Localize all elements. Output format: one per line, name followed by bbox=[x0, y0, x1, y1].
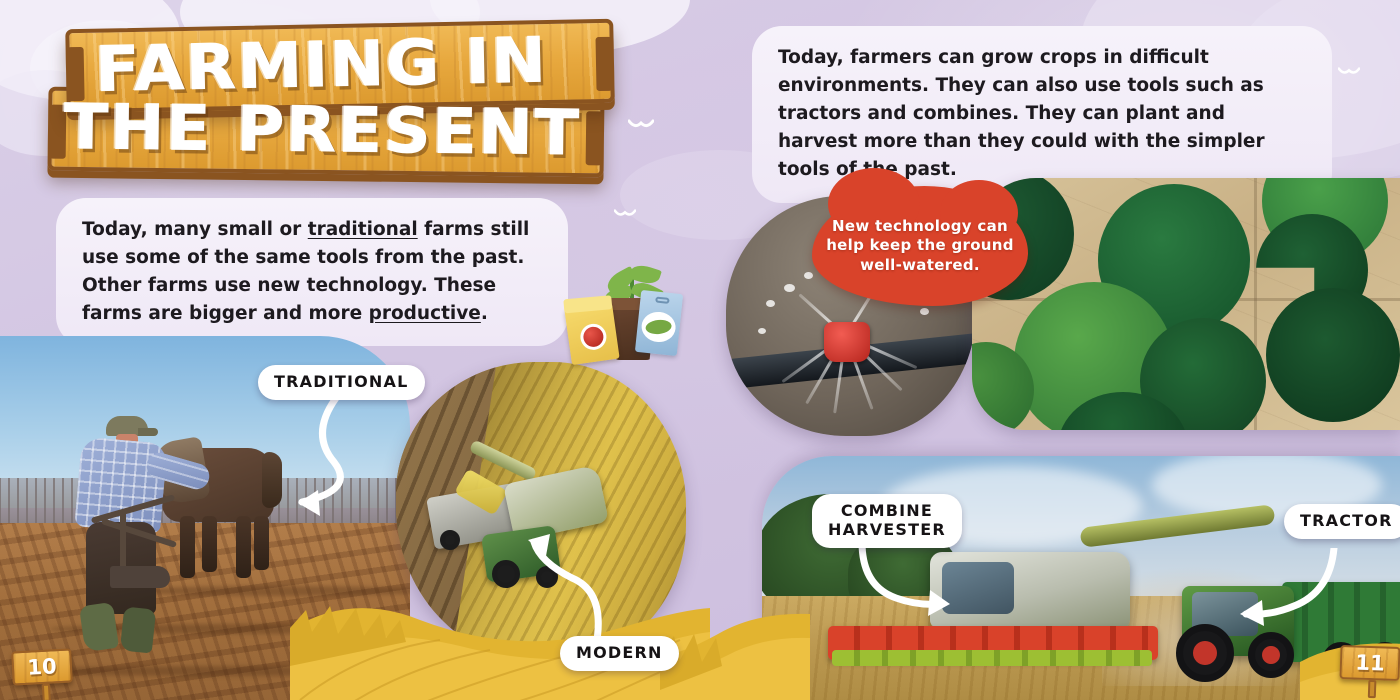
glossary-term-productive: productive bbox=[369, 303, 481, 324]
label-modern[interactable]: MODERN bbox=[560, 636, 679, 671]
label-traditional[interactable]: TRADITIONAL bbox=[258, 365, 425, 400]
pointer-traditional bbox=[240, 398, 350, 538]
book-spread: FARMING IN THE PRESENT Today, farmers ca… bbox=[0, 0, 1400, 700]
right-text-panel: Today, farmers can grow crops in difficu… bbox=[752, 26, 1332, 203]
page-number-left: 10 bbox=[11, 648, 73, 685]
page-number-right: 11 bbox=[1339, 645, 1400, 681]
pointer-tractor bbox=[1212, 548, 1342, 640]
glossary-term-traditional: traditional bbox=[308, 219, 418, 240]
pointer-combine bbox=[856, 542, 976, 628]
photo-aerial-crop-circles bbox=[972, 178, 1400, 430]
horse-plough bbox=[90, 500, 210, 590]
technology-callout-bubble: New technology can help keep the ground … bbox=[812, 186, 1028, 306]
left-text-part1: Today, many small or bbox=[82, 219, 308, 240]
left-panel-text: Today, many small or traditional farms s… bbox=[82, 216, 542, 328]
pointer-modern bbox=[500, 500, 620, 650]
bird-icon bbox=[614, 208, 636, 220]
label-combine-harvester[interactable]: COMBINE HARVESTER bbox=[812, 494, 962, 548]
right-panel-text: Today, farmers can grow crops in difficu… bbox=[778, 44, 1306, 185]
left-text-panel: Today, many small or traditional farms s… bbox=[56, 198, 568, 346]
sign-plank-top bbox=[65, 19, 615, 114]
page-number-left-value: 10 bbox=[27, 654, 57, 679]
bird-icon bbox=[628, 118, 654, 132]
bird-icon bbox=[1338, 66, 1360, 78]
page-number-right-value: 11 bbox=[1355, 650, 1385, 675]
label-tractor[interactable]: TRACTOR bbox=[1284, 504, 1400, 539]
title-wooden-sign: FARMING IN THE PRESENT bbox=[22, 18, 622, 178]
left-text-part3: . bbox=[481, 303, 488, 324]
callout-text: New technology can help keep the ground … bbox=[812, 217, 1028, 276]
seed-packets-icon bbox=[566, 262, 682, 366]
